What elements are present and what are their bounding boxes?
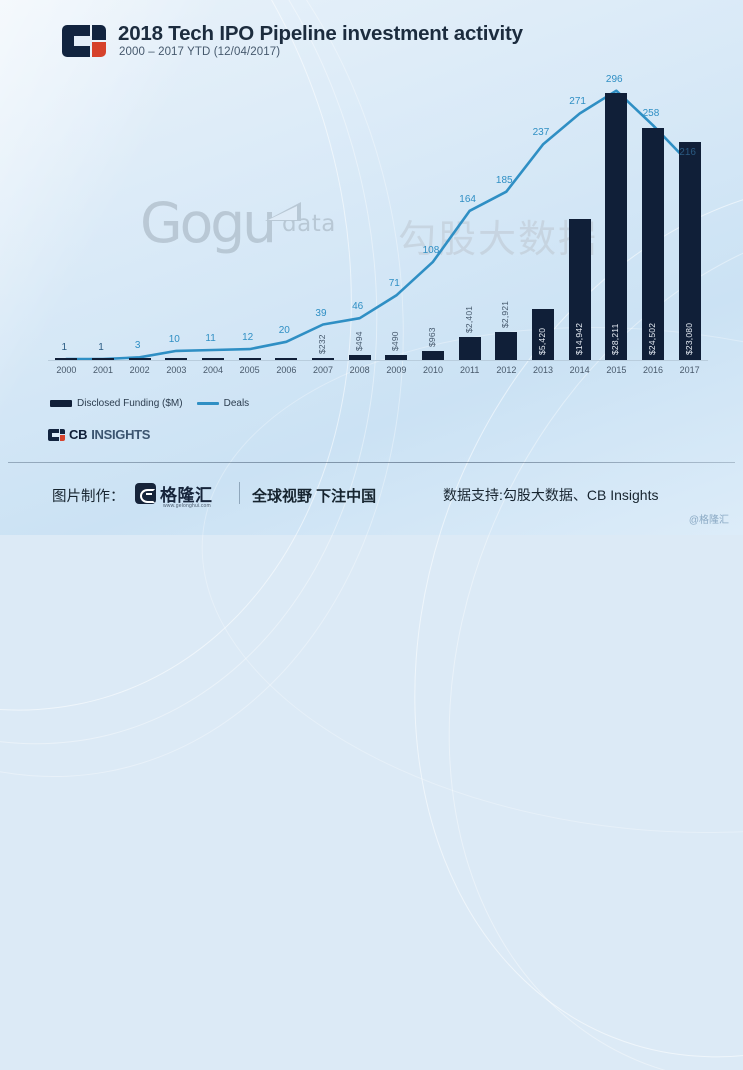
x-axis-tick-2016: 2016	[635, 365, 672, 375]
x-axis-tick-2013: 2013	[525, 365, 562, 375]
cbinsights-logo-icon	[62, 25, 106, 57]
footer-divider	[8, 462, 735, 463]
bar-2012	[495, 332, 517, 360]
footer-bar: 图片制作： 格隆汇 www.gelonghui.com 全球视野 下注中国 数据…	[0, 470, 743, 535]
bar-value-label-2010: $963	[427, 327, 437, 347]
cbinsights-footer-logo: CB INSIGHTS	[48, 427, 150, 442]
gelonghui-url: www.gelonghui.com	[163, 503, 211, 509]
x-axis-tick-2005: 2005	[231, 365, 268, 375]
deals-value-label-2005: 12	[242, 332, 253, 343]
deals-value-label-2008: 46	[352, 301, 363, 312]
bar-2015	[605, 93, 627, 360]
deals-value-label-2017: 216	[679, 147, 696, 158]
x-axis-tick-2015: 2015	[598, 365, 635, 375]
deals-value-label-2007: 39	[315, 308, 326, 319]
chart-legend: Disclosed Funding ($M) Deals	[50, 398, 249, 409]
x-axis-tick-2014: 2014	[561, 365, 598, 375]
deals-value-label-2006: 20	[279, 325, 290, 336]
bar-value-label-2013: $5,420	[537, 328, 547, 355]
deals-value-label-2004: 11	[205, 333, 215, 344]
bar-value-label-2015: $28,211	[610, 324, 620, 356]
x-axis-tick-2017: 2017	[671, 365, 708, 375]
deals-value-label-2000: 1	[62, 342, 68, 353]
page-title: 2018 Tech IPO Pipeline investment activi…	[118, 22, 523, 46]
x-axis-tick-2003: 2003	[158, 365, 195, 375]
bar-value-label-2012: $2,921	[500, 301, 510, 328]
deals-value-label-2013: 237	[533, 127, 550, 138]
x-axis-tick-2004: 2004	[195, 365, 232, 375]
bar-value-label-2014: $14,942	[574, 323, 584, 355]
bar-value-label-2016: $24,502	[647, 323, 657, 355]
deals-value-label-2016: 258	[643, 108, 660, 119]
deals-value-label-2002: 3	[135, 340, 141, 351]
deals-value-label-2001: 1	[98, 342, 104, 353]
footer-separator	[239, 482, 240, 504]
page-subtitle: 2000 – 2017 YTD (12/04/2017)	[119, 46, 280, 58]
deals-value-label-2014: 271	[569, 96, 586, 107]
bar-value-label-2009: $490	[390, 332, 400, 352]
gelonghui-mark-icon	[135, 483, 156, 504]
deals-value-label-2012: 185	[496, 175, 513, 186]
legend-item-funding: Disclosed Funding ($M)	[50, 398, 183, 409]
cbinsights-wordmark-cb: CB	[69, 427, 87, 442]
bar-value-label-2017: $23,080	[684, 323, 694, 355]
deals-value-label-2009: 71	[389, 278, 400, 289]
deals-value-label-2003: 10	[169, 334, 180, 345]
x-axis-tick-2007: 2007	[305, 365, 342, 375]
chart-container: $232$494$490$963$2,401$2,921$5,420$14,94…	[48, 72, 708, 377]
x-axis-tick-2010: 2010	[415, 365, 452, 375]
deals-value-label-2010: 108	[423, 245, 440, 256]
x-axis-line	[48, 360, 708, 361]
plot-area: $232$494$490$963$2,401$2,921$5,420$14,94…	[48, 72, 708, 360]
legend-label-funding: Disclosed Funding ($M)	[77, 398, 183, 409]
x-axis-tick-2012: 2012	[488, 365, 525, 375]
bar-swatch-icon	[50, 400, 72, 407]
cbinsights-mini-icon	[48, 429, 65, 441]
legend-item-deals: Deals	[197, 398, 250, 409]
bar-value-label-2007: $232	[317, 334, 327, 354]
x-axis-tick-2001: 2001	[85, 365, 122, 375]
made-by-label: 图片制作：	[52, 485, 125, 506]
bar-value-label-2008: $494	[354, 332, 364, 352]
bar-2011	[459, 337, 481, 360]
gelonghui-logo: 格隆汇 www.gelonghui.com	[135, 481, 213, 506]
chart-header: 2018 Tech IPO Pipeline investment activi…	[0, 8, 743, 64]
bar-2010	[422, 351, 444, 360]
brand-slogan: 全球视野 下注中国	[252, 485, 376, 506]
bar-value-label-2011: $2,401	[464, 306, 474, 333]
x-axis-tick-2000: 2000	[48, 365, 85, 375]
deals-value-label-2015: 296	[606, 74, 623, 85]
x-axis-tick-2008: 2008	[341, 365, 378, 375]
data-source-label: 数据支持:勾股大数据、CB Insights	[443, 485, 658, 505]
corner-watermark: @格隆汇	[689, 511, 729, 526]
x-axis-tick-2002: 2002	[121, 365, 158, 375]
legend-label-deals: Deals	[224, 398, 250, 409]
x-axis-tick-2009: 2009	[378, 365, 415, 375]
x-axis-tick-2006: 2006	[268, 365, 305, 375]
line-swatch-icon	[197, 402, 219, 405]
deals-value-label-2011: 164	[459, 194, 476, 205]
cbinsights-wordmark-insights: INSIGHTS	[91, 427, 150, 442]
x-axis-tick-2011: 2011	[451, 365, 488, 375]
